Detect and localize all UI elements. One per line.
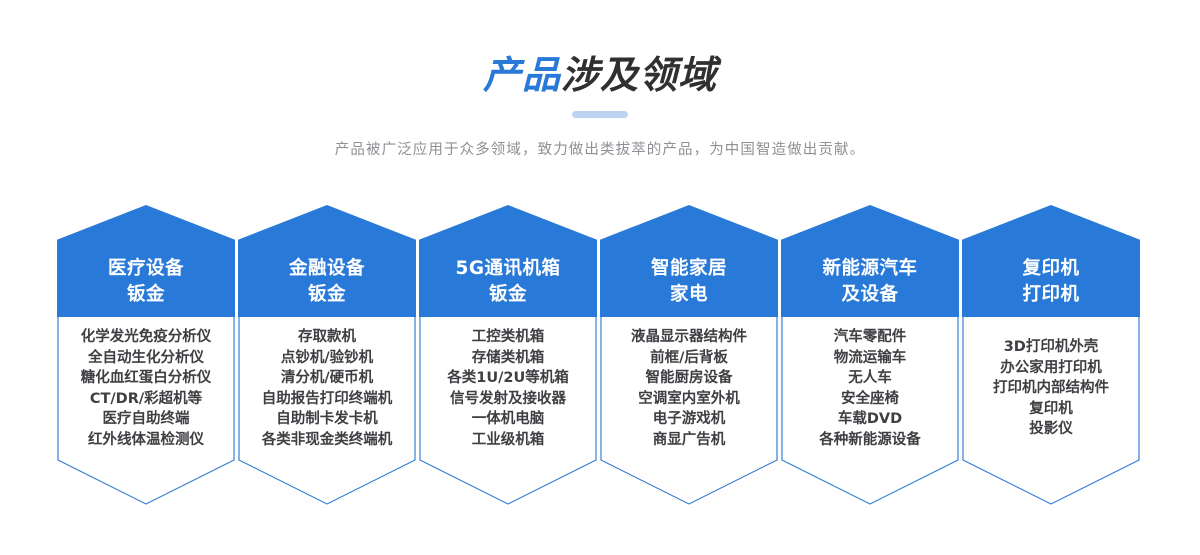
card-body: 化学发光免疫分析仪全自动生化分析仪糖化血红蛋白分析仪CT/DR/彩超机等医疗自助… [57,317,235,505]
list-item: 全自动生化分析仪 [88,348,204,369]
list-item: 信号发射及接收器 [450,389,566,410]
list-item: 点钞机/验钞机 [281,348,373,369]
card-header: 医疗设备钣金 [57,205,235,317]
list-item: 车载DVD [838,409,902,430]
card-title-line1: 复印机 [1022,256,1079,282]
card-item-list: 工控类机箱存储类机箱各类1U/2U等机箱信号发射及接收器一体机电脑工业级机箱 [419,317,597,460]
hexagon-card[interactable]: 复印机打印机3D打印机外壳办公家用打印机打印机内部结构件复印机投影仪 [962,205,1140,505]
card-body: 液晶显示器结构件前框/后背板智能厨房设备空调室内室外机电子游戏机商显广告机 [600,317,778,505]
list-item: 存取款机 [298,327,356,348]
card-body: 汽车零配件物流运输车无人车安全座椅车载DVD各种新能源设备 [781,317,959,505]
list-item: 液晶显示器结构件 [631,327,747,348]
page-title-rest: 涉及领域 [561,53,717,97]
list-item: 一体机电脑 [472,409,545,430]
card-title-line1: 金融设备 [289,256,365,282]
hexagon-card[interactable]: 新能源汽车及设备汽车零配件物流运输车无人车安全座椅车载DVD各种新能源设备 [781,205,959,505]
card-header: 新能源汽车及设备 [781,205,959,317]
list-item: 空调室内室外机 [638,389,740,410]
hexagon-card[interactable]: 智能家居家电液晶显示器结构件前框/后背板智能厨房设备空调室内室外机电子游戏机商显… [600,205,778,505]
product-fields-page: 产品涉及领域 产品被广泛应用于众多领域，致力做出类拔萃的产品，为中国智造做出贡献… [0,0,1200,555]
list-item: 智能厨房设备 [646,368,733,389]
card-title-line2: 钣金 [127,282,165,308]
list-item: 打印机内部结构件 [993,378,1109,399]
card-header: 5G通讯机箱钣金 [419,205,597,317]
card-item-list: 化学发光免疫分析仪全自动生化分析仪糖化血红蛋白分析仪CT/DR/彩超机等医疗自助… [57,317,235,460]
card-title-line2: 家电 [670,282,708,308]
hexagon-card[interactable]: 金融设备钣金存取款机点钞机/验钞机清分机/硬币机自助报告打印终端机自助制卡发卡机… [238,205,416,505]
list-item: 3D打印机外壳 [1004,337,1099,358]
card-title-line2: 及设备 [841,282,898,308]
card-header: 智能家居家电 [600,205,778,317]
list-item: 办公家用打印机 [1000,358,1102,379]
card-title-line1: 新能源汽车 [822,256,917,282]
list-item: 电子游戏机 [653,409,726,430]
page-title-highlight: 产品 [483,53,561,97]
card-body: 工控类机箱存储类机箱各类1U/2U等机箱信号发射及接收器一体机电脑工业级机箱 [419,317,597,505]
card-item-list: 液晶显示器结构件前框/后背板智能厨房设备空调室内室外机电子游戏机商显广告机 [600,317,778,460]
list-item: 清分机/硬币机 [281,368,373,389]
list-item: 复印机 [1029,399,1073,420]
list-item: 自助制卡发卡机 [276,409,378,430]
list-item: 商显广告机 [653,430,726,451]
hexagon-card[interactable]: 医疗设备钣金化学发光免疫分析仪全自动生化分析仪糖化血红蛋白分析仪CT/DR/彩超… [57,205,235,505]
card-title-line2: 打印机 [1022,282,1079,308]
card-header: 金融设备钣金 [238,205,416,317]
card-item-list: 汽车零配件物流运输车无人车安全座椅车载DVD各种新能源设备 [781,317,959,460]
list-item: 前框/后背板 [650,348,728,369]
list-item: 各种新能源设备 [819,430,921,451]
card-body: 存取款机点钞机/验钞机清分机/硬币机自助报告打印终端机自助制卡发卡机各类非现金类… [238,317,416,505]
page-subtitle: 产品被广泛应用于众多领域，致力做出类拔萃的产品，为中国智造做出贡献。 [0,139,1200,161]
list-item: 汽车零配件 [834,327,907,348]
card-title-line2: 钣金 [489,282,527,308]
page-title: 产品涉及领域 [0,52,1200,98]
list-item: 红外线体温检测仪 [88,430,204,451]
list-item: 投影仪 [1029,419,1073,440]
list-item: 工业级机箱 [472,430,545,451]
list-item: 化学发光免疫分析仪 [81,327,212,348]
card-title-line1: 智能家居 [651,256,727,282]
list-item: 各类非现金类终端机 [262,430,393,451]
card-title-line1: 5G通讯机箱 [455,256,560,282]
card-title-line2: 钣金 [308,282,346,308]
title-divider [572,111,628,118]
list-item: 自助报告打印终端机 [262,389,393,410]
list-item: 糖化血红蛋白分析仪 [81,368,212,389]
list-item: CT/DR/彩超机等 [90,389,202,410]
card-title-line1: 医疗设备 [108,256,184,282]
list-item: 医疗自助终端 [103,409,190,430]
list-item: 工控类机箱 [472,327,545,348]
card-item-list: 存取款机点钞机/验钞机清分机/硬币机自助报告打印终端机自助制卡发卡机各类非现金类… [238,317,416,460]
list-item: 物流运输车 [834,348,907,369]
list-item: 各类1U/2U等机箱 [447,368,569,389]
hexagon-card[interactable]: 5G通讯机箱钣金工控类机箱存储类机箱各类1U/2U等机箱信号发射及接收器一体机电… [419,205,597,505]
card-body: 3D打印机外壳办公家用打印机打印机内部结构件复印机投影仪 [962,317,1140,505]
card-header: 复印机打印机 [962,205,1140,317]
list-item: 存储类机箱 [472,348,545,369]
card-item-list: 3D打印机外壳办公家用打印机打印机内部结构件复印机投影仪 [962,317,1140,460]
hexagon-card-row: 医疗设备钣金化学发光免疫分析仪全自动生化分析仪糖化血红蛋白分析仪CT/DR/彩超… [57,205,1143,505]
section-header: 产品涉及领域 产品被广泛应用于众多领域，致力做出类拔萃的产品，为中国智造做出贡献… [0,52,1200,161]
list-item: 无人车 [848,368,892,389]
list-item: 安全座椅 [841,389,899,410]
